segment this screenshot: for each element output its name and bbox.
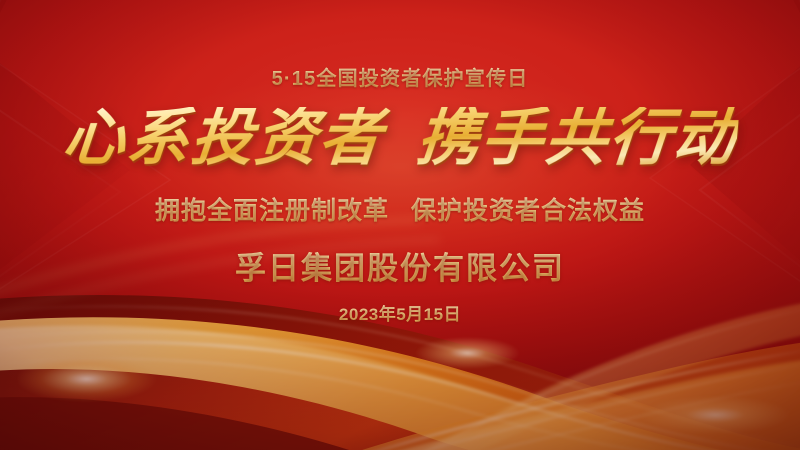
poster-subtitle: 拥抱全面注册制改革保护投资者合法权益 bbox=[155, 191, 645, 227]
campaign-eyebrow: 5·15全国投资者保护宣传日 bbox=[272, 62, 529, 91]
poster-content: 5·15全国投资者保护宣传日 心系投资者携手共行动 拥抱全面注册制改革保护投资者… bbox=[0, 0, 800, 450]
company-name: 孚日集团股份有限公司 bbox=[235, 243, 565, 288]
investor-protection-poster: 5·15全国投资者保护宣传日 心系投资者携手共行动 拥抱全面注册制改革保护投资者… bbox=[0, 0, 800, 450]
event-date: 2023年5月15日 bbox=[339, 300, 461, 325]
headline-left: 心系投资者 bbox=[60, 101, 386, 174]
poster-headline: 心系投资者携手共行动 bbox=[60, 107, 739, 169]
subtitle-right: 保护投资者合法权益 bbox=[411, 197, 645, 225]
headline-right: 携手共行动 bbox=[414, 101, 740, 174]
subtitle-left: 拥抱全面注册制改革 bbox=[155, 197, 389, 225]
